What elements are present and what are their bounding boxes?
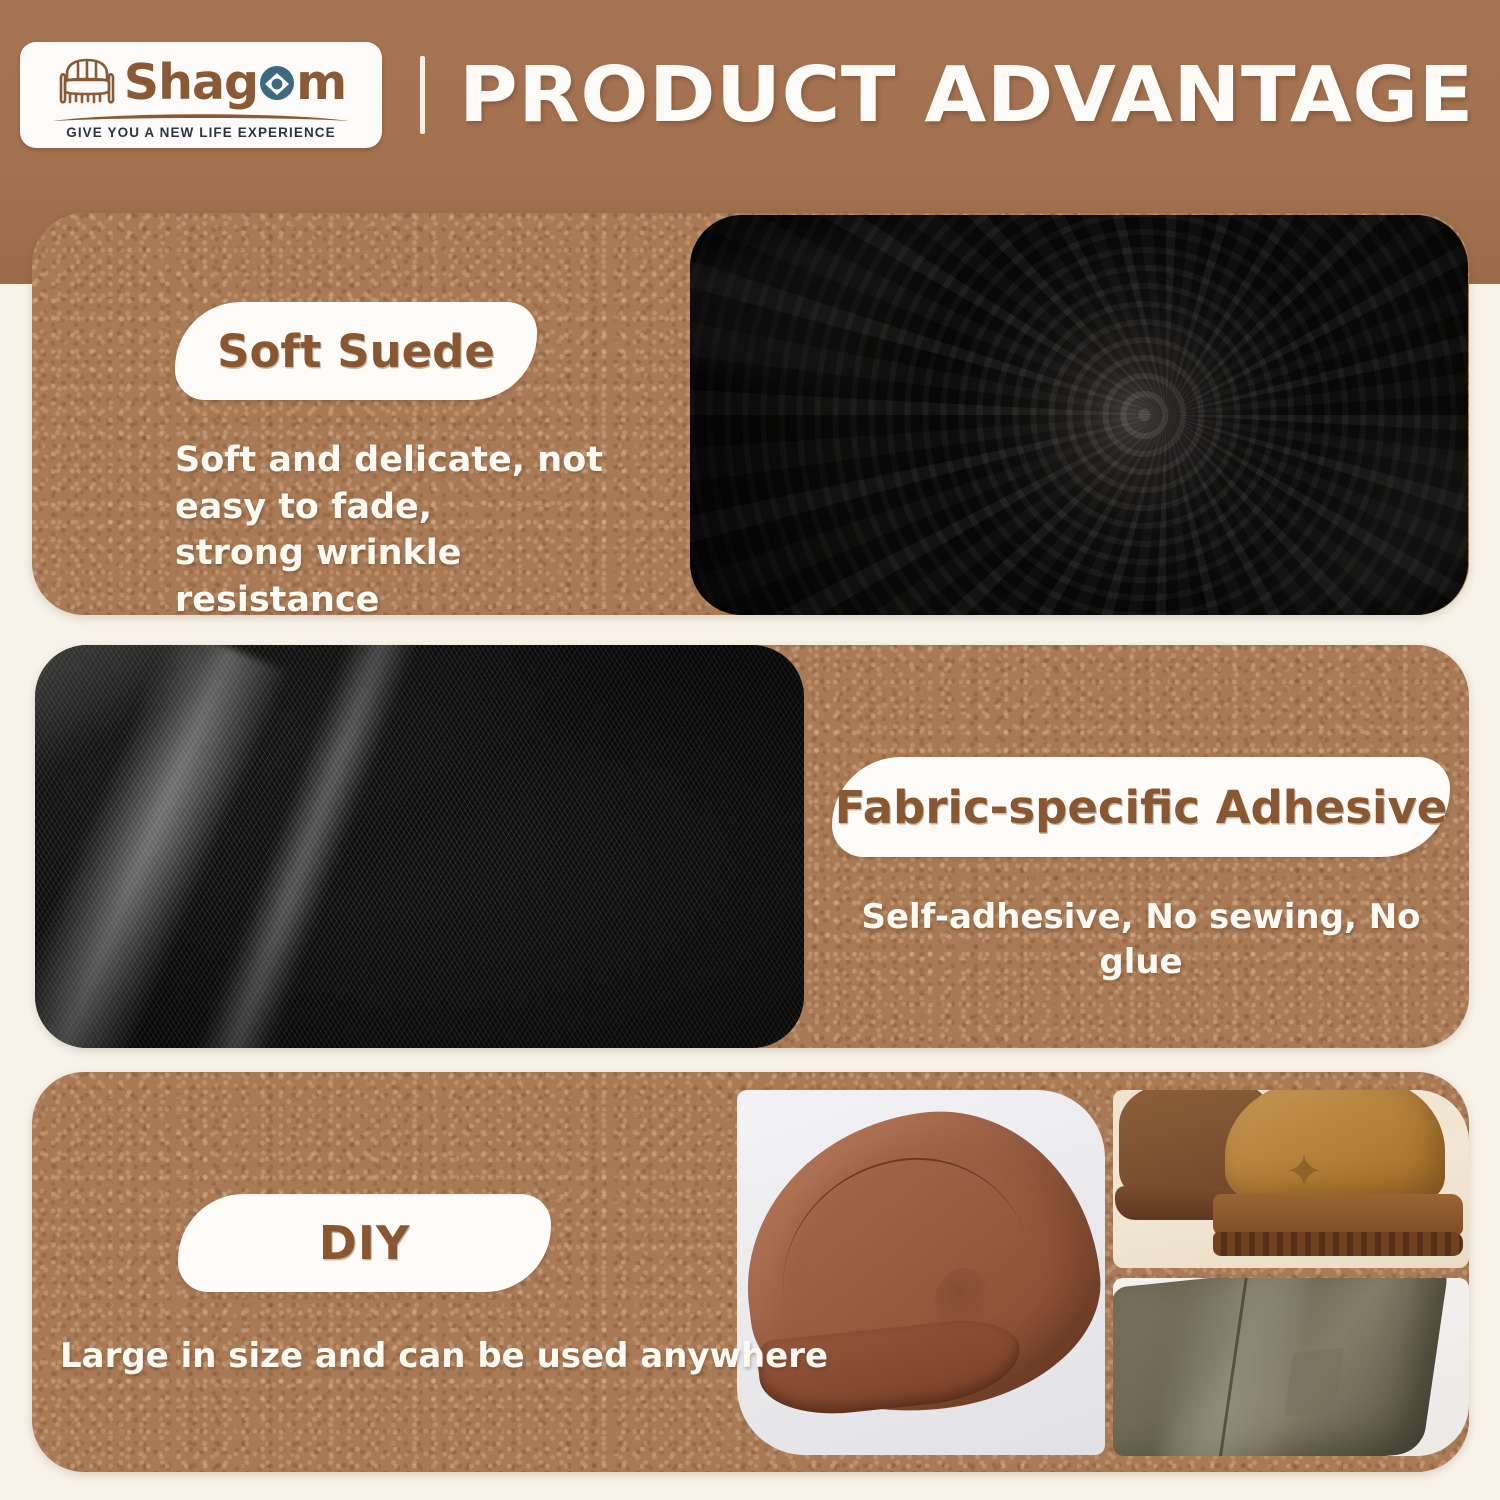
feature-label-fabric-specific-adhesive: Fabric-specific Adhesive xyxy=(835,785,1448,830)
feature-text-soft-suede: Soft Suede Soft and delicate, not easy t… xyxy=(175,302,675,623)
logo-row: Shag m xyxy=(56,53,346,113)
photo-suede-garment xyxy=(1113,1278,1469,1456)
brand-logo[interactable]: Shag m GIVE YOU A NEW LI xyxy=(20,42,382,148)
boot-upper xyxy=(1225,1090,1445,1204)
logo-wordmark: Shag m xyxy=(124,58,346,107)
garment-patch xyxy=(1284,1348,1344,1417)
logo-tagline: GIVE YOU A NEW LIFE EXPERIENCE xyxy=(66,125,336,140)
photo-suede-platform-boot: ✦ xyxy=(1113,1090,1469,1268)
feature-label-pill-diy: DIY xyxy=(178,1194,551,1292)
feature-description-soft-suede: Soft and delicate, not easy to fade, str… xyxy=(175,437,675,623)
header-inner: Shag m GIVE YOU A NEW LI xyxy=(0,0,1500,190)
feature-description-line-1: Soft and delicate, not easy to fade, xyxy=(175,437,675,530)
boot-tread xyxy=(1213,1232,1463,1256)
feature-description-line-2: strong wrinkle resistance xyxy=(175,530,675,623)
page-title: PRODUCT ADVANTAGE xyxy=(459,57,1474,134)
logo-swoosh-divider xyxy=(51,111,351,124)
cap-emboss-mark xyxy=(935,1268,995,1336)
feature-label-soft-suede: Soft Suede xyxy=(217,329,495,374)
boot-platform-sole xyxy=(1213,1194,1463,1236)
feature-description-fabric-specific-adhesive: Self-adhesive, No sewing, No glue xyxy=(832,895,1450,985)
logo-eye-o-icon xyxy=(259,65,295,101)
adhesive-vignette xyxy=(35,645,804,1048)
sofa-icon xyxy=(56,56,118,110)
photo-black-suede-fabric xyxy=(690,215,1468,615)
header-divider xyxy=(420,56,425,134)
photo-adhesive-backing xyxy=(35,645,804,1048)
feature-label-pill-fabric-specific-adhesive: Fabric-specific Adhesive xyxy=(832,757,1450,857)
suede-vignette xyxy=(690,215,1468,615)
feature-label-pill-soft-suede: Soft Suede xyxy=(175,302,537,400)
logo-word-part-1: Shag xyxy=(124,58,258,107)
logo-word-part-3: m xyxy=(296,58,346,107)
product-advantage-page: Shag m GIVE YOU A NEW LI xyxy=(0,0,1500,1500)
boot-star-emboss-icon: ✦ xyxy=(1281,1148,1327,1194)
feature-text-diy: DIY Large in size and can be used anywhe… xyxy=(178,1194,858,1379)
feature-description-diy: Large in size and can be used anywhere xyxy=(60,1334,858,1379)
feature-label-diy: DIY xyxy=(319,1220,411,1266)
feature-text-fabric-specific-adhesive: Fabric-specific Adhesive Self-adhesive, … xyxy=(832,757,1452,985)
